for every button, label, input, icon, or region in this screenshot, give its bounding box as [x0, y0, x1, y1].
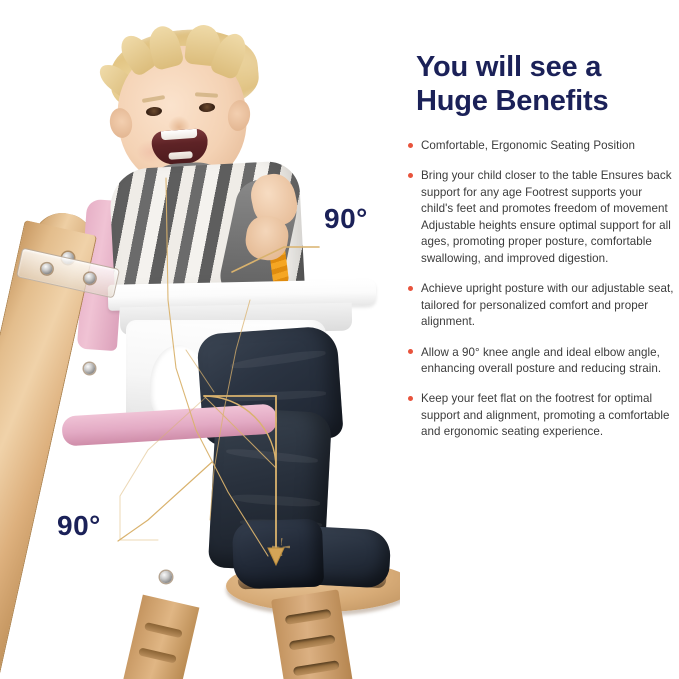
benefit-item: Keep your feet flat on the footrest for …: [405, 391, 675, 440]
chair-bolt: [160, 571, 172, 583]
leg-notch: [289, 634, 336, 650]
benefit-text: Allow a 90° knee angle and ideal elbow a…: [421, 346, 661, 375]
benefit-text: Comfortable, Ergonomic Seating Position: [421, 139, 635, 152]
page-title: You will see a Huge Benefits: [416, 50, 668, 118]
product-photo: [0, 0, 400, 679]
benefit-item: Allow a 90° knee angle and ideal elbow a…: [405, 345, 675, 378]
bullet-dot-icon: [408, 143, 413, 148]
benefits-list: Comfortable, Ergonomic Seating Position …: [405, 138, 675, 455]
headline-line-2: Huge Benefits: [416, 84, 668, 118]
child-teeth-lower: [168, 151, 192, 160]
chair-bolt: [84, 363, 95, 374]
benefits-panel: You will see a Huge Benefits Comfortable…: [400, 0, 679, 679]
bullet-dot-icon: [408, 286, 413, 291]
benefit-item: Comfortable, Ergonomic Seating Position: [405, 138, 675, 154]
headline-line-1: You will see a: [416, 50, 668, 84]
leg-notch: [138, 647, 177, 663]
elbow-angle-label: 90°: [324, 205, 368, 233]
knee-angle-label: 90°: [57, 512, 101, 540]
boot-star-detail: [272, 538, 290, 556]
bullet-dot-icon: [408, 396, 413, 401]
clamp-bolt: [40, 262, 53, 275]
child-teeth-upper: [161, 129, 198, 140]
benefit-item: Achieve upright posture with our adjusta…: [405, 281, 675, 330]
promo-infographic: 90° 90° You will see a Huge Benefits Com…: [0, 0, 679, 679]
bullet-dot-icon: [408, 349, 413, 354]
benefit-text: Bring your child closer to the table Ens…: [421, 169, 672, 264]
leg-notch: [285, 609, 332, 625]
clamp-bolt: [83, 272, 96, 285]
leg-notch: [293, 660, 340, 676]
benefit-text: Keep your feet flat on the footrest for …: [421, 392, 670, 438]
leg-notch: [144, 622, 183, 638]
bullet-dot-icon: [408, 173, 413, 178]
benefit-text: Achieve upright posture with our adjusta…: [421, 282, 674, 328]
benefit-item: Bring your child closer to the table Ens…: [405, 168, 675, 267]
